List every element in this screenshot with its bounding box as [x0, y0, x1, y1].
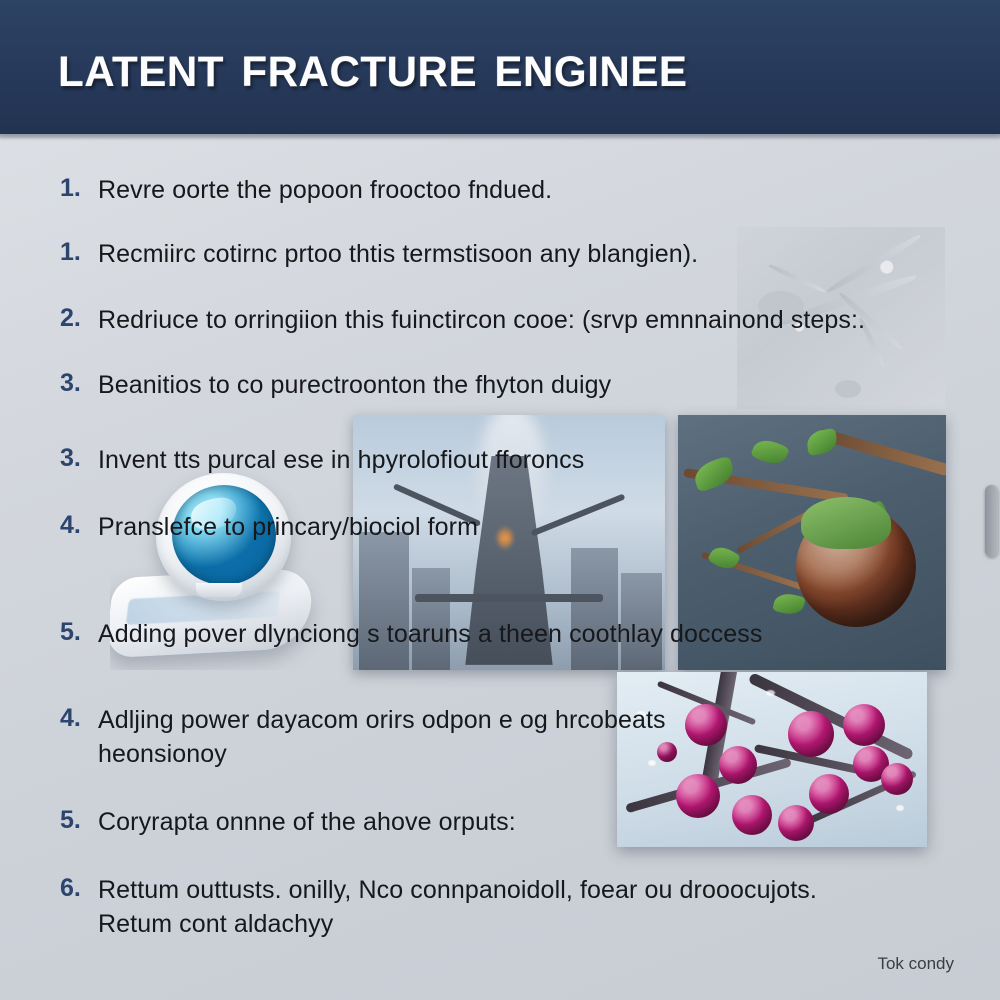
- list-item-number: 3.: [60, 368, 98, 398]
- list-item-text: Redriuce to orringiion this fuinctircon …: [98, 303, 865, 337]
- page-root: Latent Fracture Enginee: [0, 0, 1000, 1000]
- vertical-scrollbar[interactable]: [984, 140, 998, 1000]
- page-header: Latent Fracture Enginee: [0, 0, 1000, 134]
- list-item-text: Rettum outtusts. onilly, Nco connpanoido…: [98, 873, 817, 941]
- list-item-number: 1.: [60, 173, 98, 203]
- list-item-text: Coryrapta onnne of the ahove orputs:: [98, 805, 516, 839]
- list-item-text: Adding pover dlynciong s toaruns a theen…: [98, 617, 762, 651]
- list-item-number: 1.: [60, 237, 98, 267]
- list-item: 2. Redriuce to orringiion this fuinctirc…: [60, 303, 865, 337]
- page-title: Latent Fracture Enginee: [58, 30, 688, 101]
- list-item-text: Beanitios to co purectroonton the fhyton…: [98, 368, 611, 402]
- list-item: 4. Adljing power dayacom orirs odpon e o…: [60, 703, 666, 771]
- list-item-number: 5.: [60, 805, 98, 835]
- list-item-number: 4.: [60, 703, 98, 733]
- list-item-text: Adljing power dayacom orirs odpon e og h…: [98, 703, 666, 771]
- list-item-text: Revre oorte the popoon frooctoo fndued.: [98, 173, 552, 207]
- list-item-number: 2.: [60, 303, 98, 333]
- list-item-text: Recmiirc cotirnc prtoo thtis termstisoon…: [98, 237, 698, 271]
- list-item: 3. Beanitios to co purectroonton the fhy…: [60, 368, 611, 402]
- list-item-number: 5.: [60, 617, 98, 647]
- list-item-text: Pranslefce to princary/biociol form: [98, 510, 478, 544]
- list-item: 3. Invent tts purcal ese in hpyrolofiout…: [60, 443, 584, 477]
- list-item: 5. Coryrapta onnne of the ahove orputs:: [60, 805, 516, 839]
- list-item: 5. Adding pover dlynciong s toaruns a th…: [60, 617, 762, 651]
- list-item-number: 4.: [60, 510, 98, 540]
- list-item: 1. Recmiirc cotirnc prtoo thtis termstis…: [60, 237, 698, 271]
- list-item-number: 6.: [60, 873, 98, 903]
- list-item: 1. Revre oorte the popoon frooctoo fndue…: [60, 173, 552, 207]
- list-item-number: 3.: [60, 443, 98, 473]
- list-item-text: Invent tts purcal ese in hpyrolofiout ff…: [98, 443, 584, 477]
- list-item: 4. Pranslefce to princary/biociol form: [60, 510, 478, 544]
- list-item: 6. Rettum outtusts. onilly, Nco connpano…: [60, 873, 817, 941]
- footnote-text: Tok condy: [877, 954, 954, 974]
- scrollbar-thumb[interactable]: [985, 485, 998, 557]
